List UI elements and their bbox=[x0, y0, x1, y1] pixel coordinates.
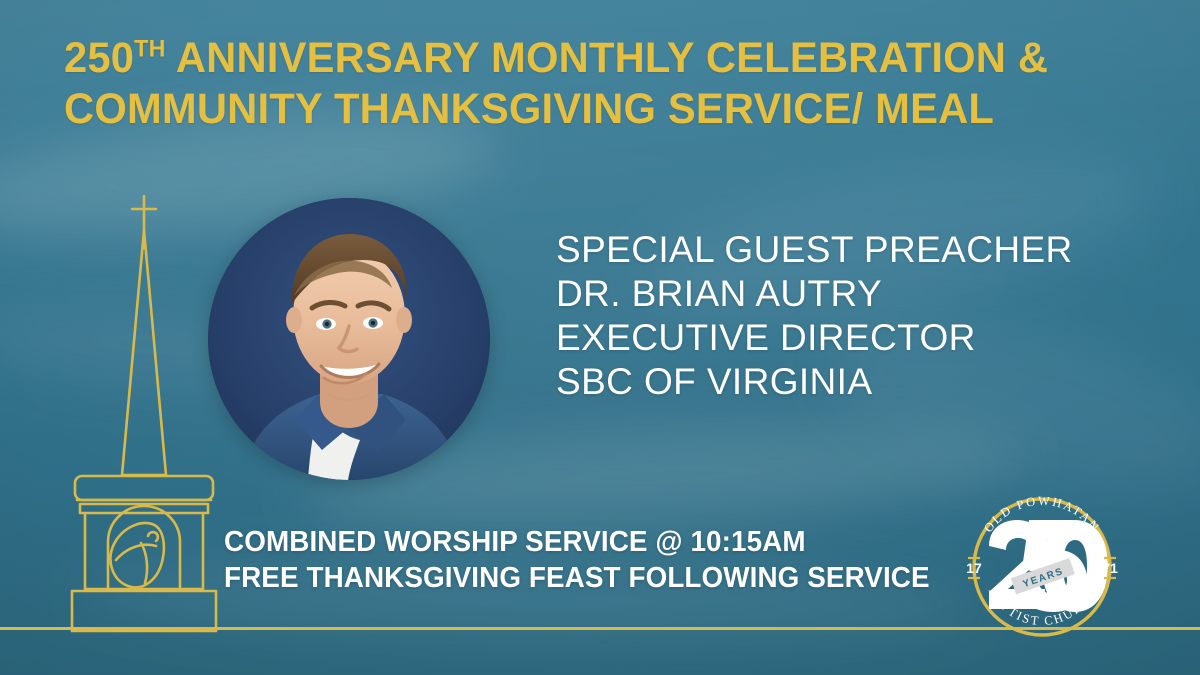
ordinal-suffix: TH bbox=[134, 36, 165, 63]
seal-year-left: 17 bbox=[966, 560, 982, 576]
headline-line-2: COMMUNITY THANKSGIVING SERVICE/ MEAL bbox=[64, 84, 1121, 135]
guest-line-3: EXECUTIVE DIRECTOR bbox=[556, 316, 1073, 360]
anniversary-number: 250 bbox=[64, 34, 134, 82]
anniversary-seal-icon: YEARS OLD POWHATAN BAPTIST CHURCH 17 71 bbox=[957, 482, 1127, 652]
event-details: COMBINED WORSHIP SERVICE @ 10:15AM FREE … bbox=[224, 524, 930, 596]
page-title: 250TH ANNIVERSARY MONTHLY CELEBRATION & … bbox=[64, 33, 1121, 135]
guest-line-2: DR. BRIAN AUTRY bbox=[556, 272, 1073, 316]
headline-line-1: 250TH ANNIVERSARY MONTHLY CELEBRATION & bbox=[64, 33, 1121, 84]
guest-line-4: SBC OF VIRGINIA bbox=[556, 360, 1073, 404]
church-steeple-icon bbox=[44, 188, 244, 640]
anniversary-poster: 250TH ANNIVERSARY MONTHLY CELEBRATION & … bbox=[0, 0, 1200, 675]
bell-icon bbox=[110, 523, 163, 587]
headline-line-1-rest: ANNIVERSARY MONTHLY CELEBRATION & bbox=[166, 34, 1049, 82]
avatar bbox=[208, 198, 490, 480]
portrait-illustration bbox=[208, 198, 490, 480]
guest-line-1: SPECIAL GUEST PREACHER bbox=[556, 228, 1073, 272]
event-line-2: FREE THANKSGIVING FEAST FOLLOWING SERVIC… bbox=[224, 560, 930, 596]
event-line-1: COMBINED WORSHIP SERVICE @ 10:15AM bbox=[224, 524, 930, 560]
guest-preacher-info: SPECIAL GUEST PREACHER DR. BRIAN AUTRY E… bbox=[556, 228, 1073, 404]
seal-year-right: 71 bbox=[1102, 560, 1118, 576]
cross-icon bbox=[132, 196, 156, 230]
